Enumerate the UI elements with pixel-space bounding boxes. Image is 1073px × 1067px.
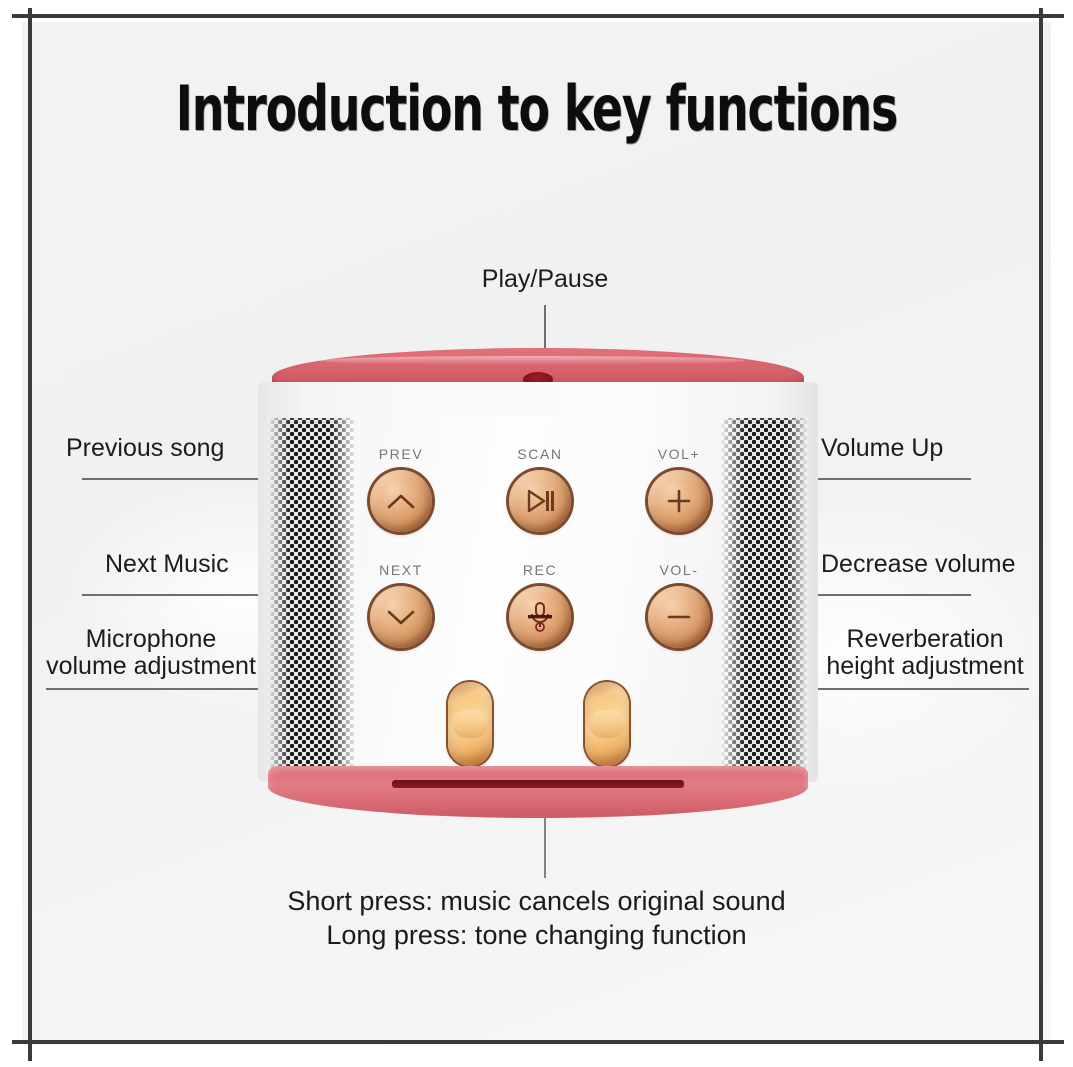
remix-slider[interactable] (585, 682, 629, 766)
volume-up-button[interactable] (648, 470, 710, 532)
mic-volume-slider-knob[interactable] (452, 710, 488, 738)
prev-button[interactable] (370, 470, 432, 532)
page-title: Introduction to key functions (139, 72, 933, 145)
callout-next-music: Next Music (105, 551, 229, 578)
callout-reverberation-line2: height adjustment (800, 653, 1050, 680)
callout-decrease-volume: Decrease volume (821, 551, 1016, 578)
button-label-scan: SCAN (485, 446, 595, 462)
callout-reverberation-line1: Reverberation (800, 626, 1050, 653)
speaker-body: PREV SCAN VOL+ (258, 382, 818, 782)
callout-volume-up: Volume Up (821, 435, 943, 462)
bottom-note-line1: Short press: music cancels original soun… (0, 884, 1073, 918)
top-rim-gloss (320, 356, 746, 365)
up-arrow-icon (386, 489, 416, 513)
speaker-grille-right (722, 418, 808, 786)
bottom-rim-slot (392, 780, 684, 789)
plus-icon (665, 487, 693, 515)
minus-icon (665, 603, 693, 631)
scan-play-pause-button[interactable] (509, 470, 571, 532)
frame-rule-top (12, 14, 1064, 18)
callout-previous-song: Previous song (66, 435, 224, 462)
button-label-vol-down: VOL- (624, 562, 734, 578)
screenshot-root: Introduction to key functions Play/Pause… (0, 0, 1073, 1067)
down-arrow-icon (386, 605, 416, 629)
button-label-next: NEXT (346, 562, 456, 578)
speaker-device: PREV SCAN VOL+ (258, 348, 818, 818)
volume-down-button[interactable] (648, 586, 710, 648)
button-label-prev: PREV (346, 446, 456, 462)
record-button[interactable] (509, 586, 571, 648)
speaker-grille-left (268, 418, 354, 786)
callout-microphone-volume-line1: Microphone (26, 626, 276, 653)
speaker-bottom-rim (268, 766, 808, 818)
bottom-note-line2: Long press: tone changing function (0, 918, 1073, 952)
callout-play-pause: Play/Pause (395, 266, 695, 293)
button-label-rec: REC (485, 562, 595, 578)
button-label-vol-up: VOL+ (624, 446, 734, 462)
bottom-note: Short press: music cancels original soun… (0, 884, 1073, 952)
frame-rule-bottom (12, 1040, 1064, 1044)
remix-slider-knob[interactable] (589, 710, 625, 738)
mic-volume-slider[interactable] (448, 682, 492, 766)
callout-microphone-volume-line2: volume adjustment (26, 653, 276, 680)
play-pause-icon (525, 488, 555, 514)
microphone-icon (525, 600, 555, 634)
next-button[interactable] (370, 586, 432, 648)
